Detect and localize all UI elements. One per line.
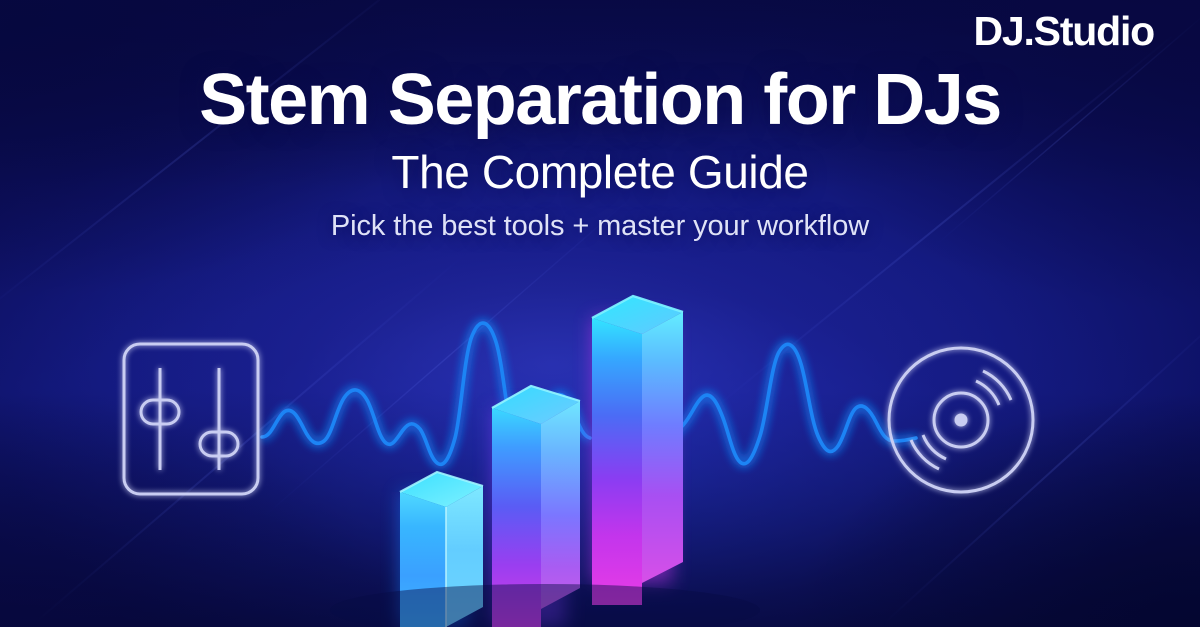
bar-3-side-face — [642, 312, 683, 583]
page-tagline: Pick the best tools + master your workfl… — [0, 210, 1200, 243]
vinyl-groove-arc-1 — [983, 371, 1011, 400]
equalizer-sliders-icon — [124, 344, 258, 494]
audio-waveform — [262, 323, 916, 464]
stem-bar-3 — [592, 296, 683, 605]
vinyl-record-icon — [889, 348, 1033, 492]
bar-2-side-face — [541, 401, 580, 609]
brand-logo[interactable]: DJ.Studio — [973, 8, 1154, 55]
hero-banner: DJ.Studio Stem Separation for DJs The Co… — [0, 0, 1200, 627]
page-title: Stem Separation for DJs — [0, 64, 1200, 136]
vinyl-groove-arc-3 — [911, 440, 939, 469]
bars-floor-shadow — [330, 584, 760, 627]
hero-text-block: Stem Separation for DJs The Complete Gui… — [0, 64, 1200, 243]
waveform-right-segment — [664, 344, 916, 463]
vinyl-spindle-hole — [955, 414, 968, 427]
bar-3-front-face — [592, 318, 642, 605]
page-subtitle: The Complete Guide — [0, 148, 1200, 196]
